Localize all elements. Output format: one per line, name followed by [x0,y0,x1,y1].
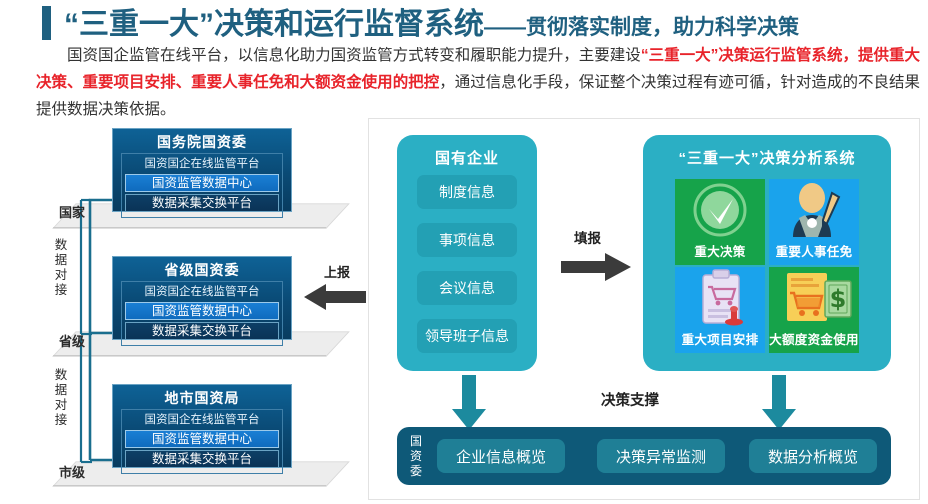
analysis-tile-label-personnel: 重要人事任免 [769,241,859,260]
analysis-tile-projects[interactable]: 重大项目安排 [675,267,765,353]
hierarchy-diagram: 国务院国资委 国资国企在线监管平台 国资监管数据中心 数据采集交换平台 国家 省… [18,122,370,502]
tier-rows-municipal: 国资国企在线监管平台 国资监管数据中心 数据采集交换平台 [121,409,283,474]
tier-row-exchange-provincial[interactable]: 数据采集交换平台 [125,322,279,340]
tier-row-exchange-national[interactable]: 数据采集交换平台 [125,194,279,212]
fill-right-arrow-icon [561,251,631,283]
tier-rows-national: 国资国企在线监管平台 国资监管数据中心 数据采集交换平台 [121,153,283,218]
page-title-separator: —— [484,16,526,39]
tier-card-provincial[interactable]: 省级国资委 国资国企在线监管平台 国资监管数据中心 数据采集交换平台 [112,256,292,340]
down-arrow-left-icon [451,375,487,431]
bottom-item-anomaly-monitor[interactable]: 决策异常监测 [597,439,725,473]
analysis-tile-label-projects: 重大项目安排 [675,329,765,348]
intro-text-part1: 国资国企监管在线平台，以信息化助力国资监管方式转变和履职能力提升，主要建设 [67,47,641,64]
cart-money-icon: $ [769,267,859,329]
tier-row-platform-national[interactable]: 国资国企在线监管平台 [125,156,279,172]
tier-row-exchange-municipal[interactable]: 数据采集交换平台 [125,450,279,468]
tier-row-platform-provincial[interactable]: 国资国企在线监管平台 [125,284,279,300]
tier-row-datacenter-provincial[interactable]: 国资监管数据中心 [125,302,279,320]
gap-label-data-docking-1: 数据对接 [54,238,68,298]
clipboard-cart-stamp-icon [675,267,765,329]
intro-paragraph: 国资国企监管在线平台，以信息化助力国资监管方式转变和履职能力提升，主要建设“三重… [36,42,920,123]
analysis-card-title: “三重一大”决策分析系统 [643,147,891,168]
sasac-side-label: 国资委 [409,434,423,479]
tier-title-national: 国务院国资委 [118,132,286,152]
tier-title-municipal: 地市国资局 [118,388,286,408]
enterprise-card: 国有企业 制度信息 事项信息 会议信息 领导班子信息 [397,135,537,371]
report-arrow-label: 上报 [324,262,350,281]
check-circle-icon [675,179,765,241]
enterprise-item-leadership-info[interactable]: 领导班子信息 [417,319,517,353]
analysis-tile-funds[interactable]: $ 大额度资金使用 [769,267,859,353]
bottom-item-data-analysis[interactable]: 数据分析概览 [749,439,877,473]
decision-support-label: 决策支撑 [601,389,659,410]
tier-rows-provincial: 国资国企在线监管平台 国资监管数据中心 数据采集交换平台 [121,281,283,346]
title-accent-bar [42,6,51,40]
tier-row-datacenter-national[interactable]: 国资监管数据中心 [125,174,279,192]
tier-title-provincial: 省级国资委 [118,260,286,280]
page-title-sub: 贯彻落实制度，助力科学决策 [526,16,799,39]
enterprise-card-title: 国有企业 [397,147,537,168]
page-title-main: “三重一大”决策和运行监督系统 [64,8,484,41]
plane-label-provincial: 省级 [59,331,85,350]
analysis-tile-label-funds: 大额度资金使用 [769,329,859,348]
analysis-tile-label-major-decision: 重大决策 [675,241,765,260]
analysis-card: “三重一大”决策分析系统 重大决策 [643,135,891,371]
bottom-item-enterprise-overview[interactable]: 企业信息概览 [437,439,565,473]
tier-row-platform-municipal[interactable]: 国资国企在线监管平台 [125,412,279,428]
enterprise-item-meeting-info[interactable]: 会议信息 [417,271,517,305]
person-pencil-icon [769,179,859,241]
plane-label-national: 国家 [59,202,85,221]
page-title: “三重一大”决策和运行监督系统——贯彻落实制度，助力科学决策 [64,0,799,43]
analysis-tile-major-decision[interactable]: 重大决策 [675,179,765,265]
header: “三重一大”决策和运行监督系统——贯彻落实制度，助力科学决策 国资国企监管在线平… [0,0,928,112]
report-left-arrow-icon [304,282,366,312]
enterprise-item-system-info[interactable]: 制度信息 [417,175,517,209]
down-arrow-right-icon [761,375,797,431]
plane-label-municipal: 市级 [59,462,85,481]
page-root: “三重一大”决策和运行监督系统——贯彻落实制度，助力科学决策 国资国企监管在线平… [0,0,928,504]
fill-arrow-label: 填报 [574,227,601,247]
system-architecture-panel: 国有企业 制度信息 事项信息 会议信息 领导班子信息 填报 “三重一大”决策分析… [368,118,920,500]
gap-label-data-docking-2: 数据对接 [54,368,68,428]
enterprise-item-matter-info[interactable]: 事项信息 [417,223,517,257]
svg-text:$: $ [830,285,847,313]
analysis-tile-personnel[interactable]: 重要人事任免 [769,179,859,265]
tier-row-datacenter-municipal[interactable]: 国资监管数据中心 [125,430,279,448]
tier-card-national[interactable]: 国务院国资委 国资国企在线监管平台 国资监管数据中心 数据采集交换平台 [112,128,292,212]
sasac-bottom-bar: 国资委 企业信息概览 决策异常监测 数据分析概览 [397,427,891,485]
tier-card-municipal[interactable]: 地市国资局 国资国企在线监管平台 国资监管数据中心 数据采集交换平台 [112,384,292,468]
